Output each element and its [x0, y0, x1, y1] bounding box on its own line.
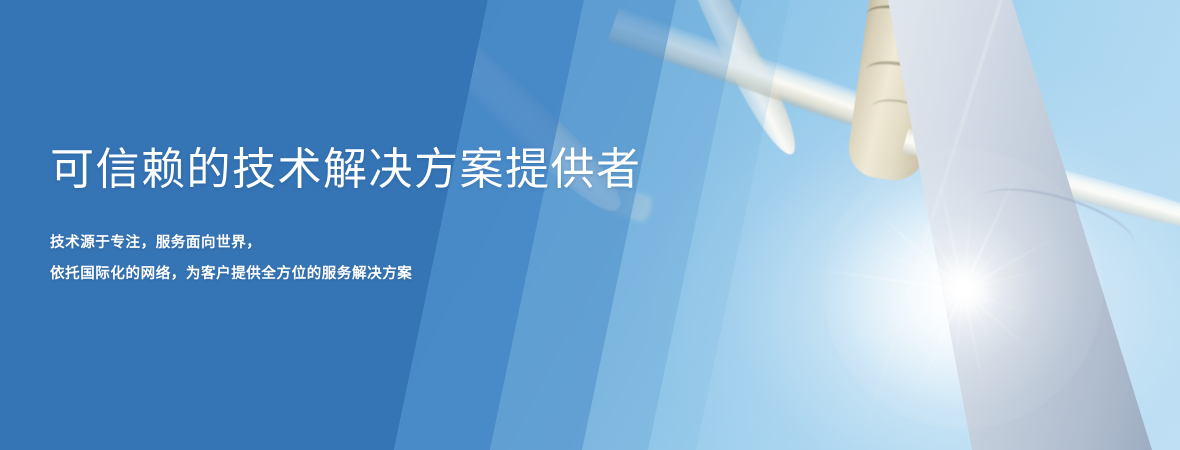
- banner-subtitle-line-2: 依托国际化的网络，为客户提供全方位的服务解决方案: [50, 267, 412, 282]
- banner-text-block: 可信赖的技术解决方案提供者 技术源于专注，服务面向世界， 依托国际化的网络，为客…: [50, 0, 750, 450]
- banner-headline: 可信赖的技术解决方案提供者: [50, 148, 642, 192]
- banner-subtitle-line-1: 技术源于专注，服务面向世界，: [50, 236, 261, 251]
- hero-banner: 可信赖的技术解决方案提供者 技术源于专注，服务面向世界， 依托国际化的网络，为客…: [0, 0, 1180, 450]
